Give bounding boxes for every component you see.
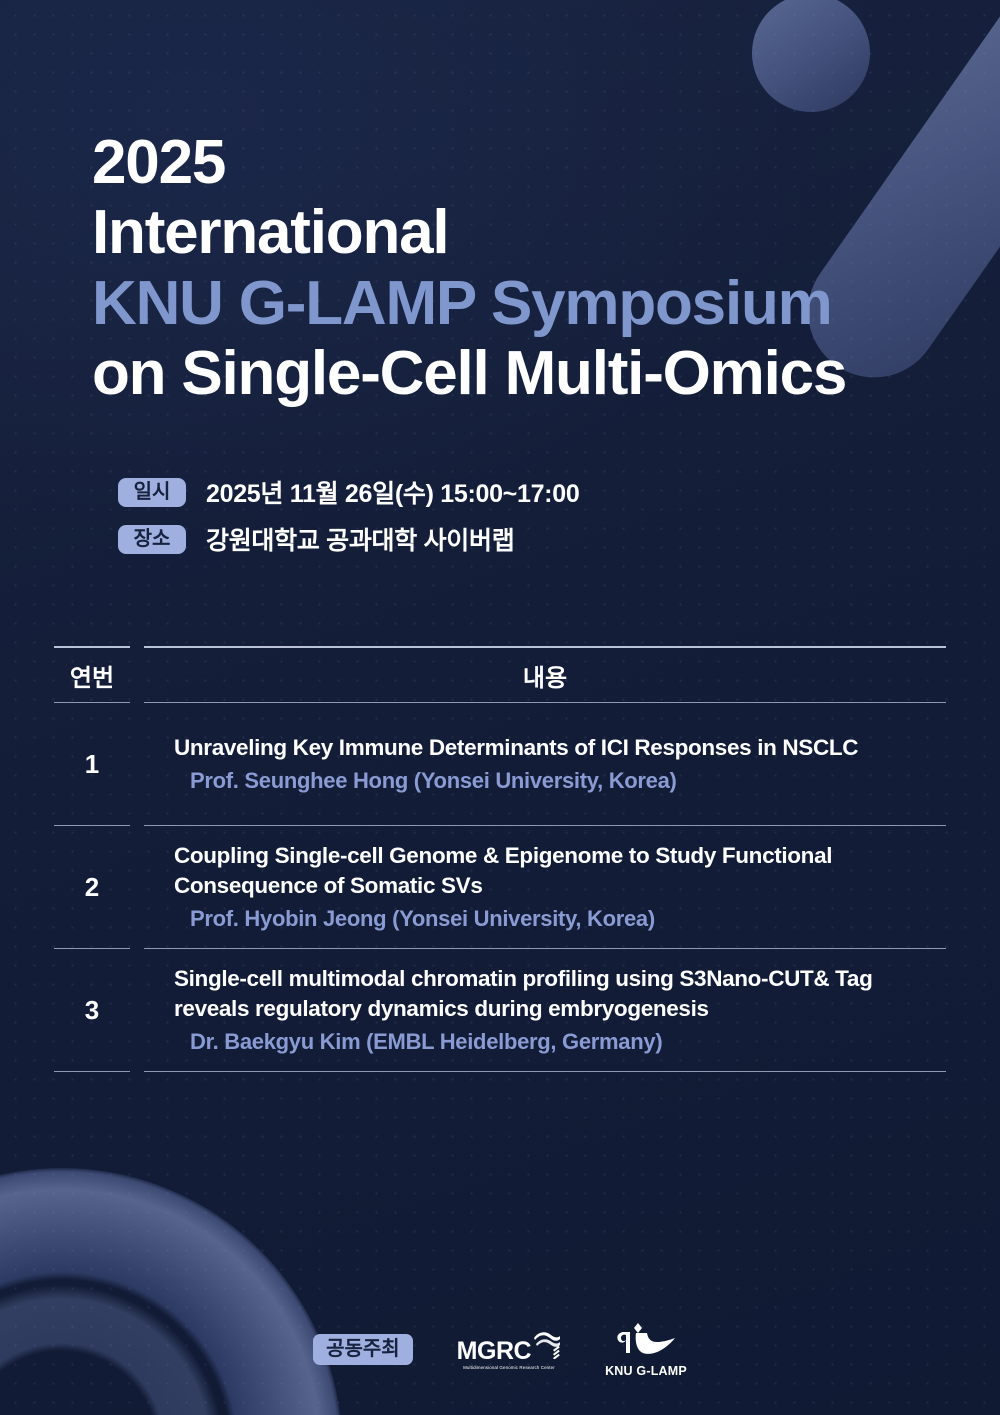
poster-canvas: 2025 International KNU G-LAMP Symposium … — [0, 0, 1000, 1415]
table-rule-bottom — [54, 1071, 946, 1072]
talk-title: Unraveling Key Immune Determinants of IC… — [174, 733, 946, 763]
row-content: Single-cell multimodal chromatin profili… — [144, 964, 946, 1055]
date-badge: 일시 — [118, 478, 186, 507]
table-header-row: 연번 내용 — [54, 648, 946, 702]
header-cell-no: 연번 — [54, 658, 130, 693]
row-content: Unraveling Key Immune Determinants of IC… — [144, 733, 946, 795]
row-content: Coupling Single-cell Genome & Epigenome … — [144, 841, 946, 932]
talk-speaker: Prof. Hyobin Jeong (Yonsei University, K… — [174, 904, 946, 933]
mgrc-subtitle: Multidimensional Genomic Research Center — [463, 1366, 555, 1370]
talk-title: Coupling Single-cell Genome & Epigenome … — [174, 841, 946, 900]
event-date-row: 일시 2025년 11월 26일(수) 15:00~17:00 — [118, 474, 579, 510]
table-rule-row-2 — [54, 948, 946, 949]
glamp-flame-icon — [615, 1322, 677, 1361]
title-line-4: on Single-Cell Multi-Omics — [92, 339, 846, 409]
poster-title: 2025 International KNU G-LAMP Symposium … — [92, 128, 846, 409]
event-info: 일시 2025년 11월 26일(수) 15:00~17:00 장소 강원대학교… — [118, 474, 579, 568]
title-line-3: KNU G-LAMP Symposium — [92, 269, 846, 339]
cohost-badge: 공동주최 — [313, 1334, 413, 1365]
venue-badge: 장소 — [118, 525, 186, 554]
table-rule-row-1 — [54, 825, 946, 826]
venue-value: 강원대학교 공과대학 사이버랩 — [206, 521, 514, 557]
date-value: 2025년 11월 26일(수) 15:00~17:00 — [206, 474, 579, 510]
talk-speaker: Dr. Baekgyu Kim (EMBL Heidelberg, German… — [174, 1027, 946, 1056]
knu-glamp-logo: KNU G-LAMP — [605, 1322, 687, 1378]
mgrc-wordmark: MGRC — [457, 1339, 531, 1364]
table-rule-top — [54, 646, 946, 648]
glamp-wordmark: KNU G-LAMP — [605, 1365, 687, 1378]
table-row: 2 Coupling Single-cell Genome & Epigenom… — [54, 826, 946, 948]
table-row: 1 Unraveling Key Immune Determinants of … — [54, 703, 946, 825]
title-line-2: International — [92, 198, 846, 268]
title-line-1: 2025 — [92, 128, 846, 198]
row-number: 2 — [54, 872, 130, 903]
table-rule-header-bottom — [54, 702, 946, 703]
row-number: 3 — [54, 995, 130, 1026]
event-venue-row: 장소 강원대학교 공과대학 사이버랩 — [118, 521, 579, 557]
mgrc-logo: MGRC Multidimensiona — [457, 1329, 561, 1370]
talk-title: Single-cell multimodal chromatin profili… — [174, 964, 946, 1023]
row-number: 1 — [54, 749, 130, 780]
talk-speaker: Prof. Seunghee Hong (Yonsei University, … — [174, 766, 946, 795]
footer-logos: 공동주최 MGRC — [0, 1322, 1000, 1378]
programme-table: 연번 내용 1 Unraveling Key Immune Determinan… — [54, 646, 946, 1072]
header-cell-content: 내용 — [144, 658, 946, 693]
table-row: 3 Single-cell multimodal chromatin profi… — [54, 949, 946, 1071]
dna-helix-icon — [533, 1329, 561, 1364]
